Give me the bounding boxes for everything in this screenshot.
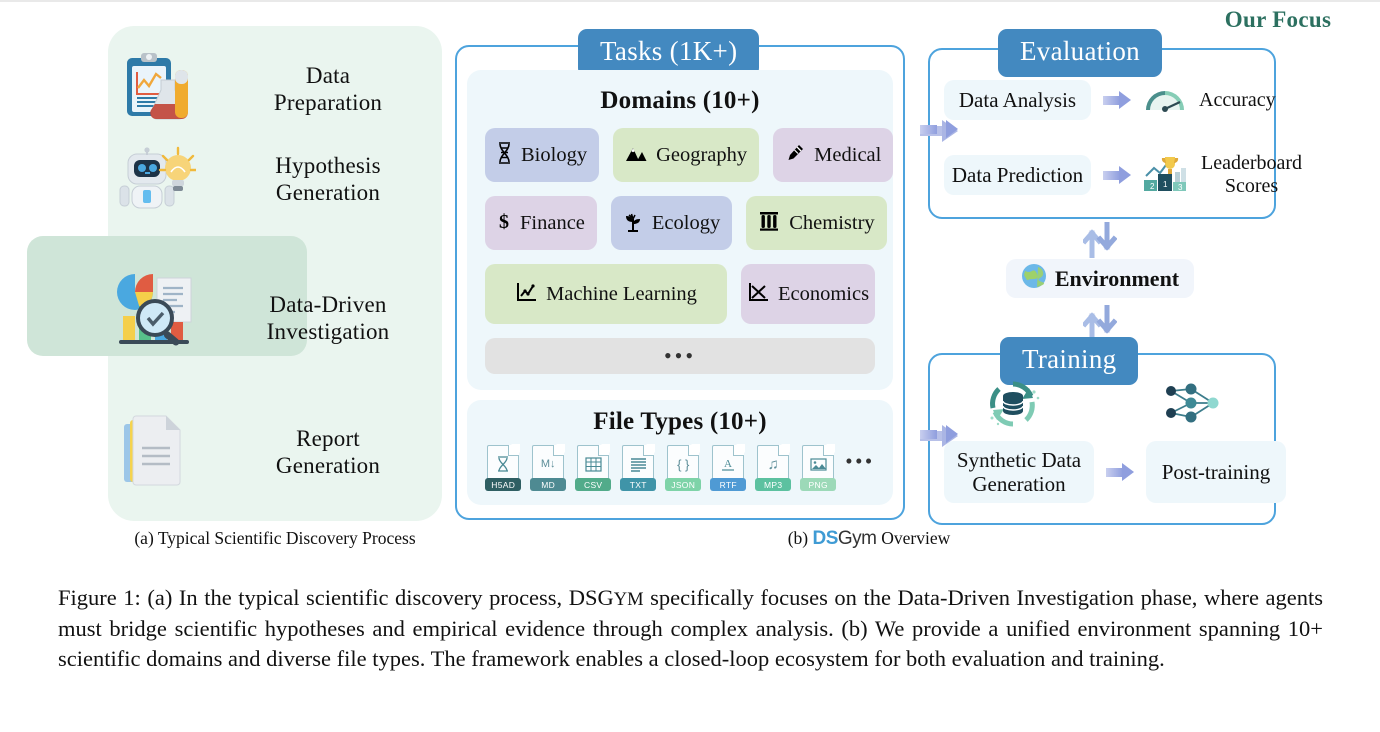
svg-text:2: 2	[1150, 182, 1155, 191]
svg-text:3: 3	[1178, 183, 1183, 192]
arrow-tasks-to-training	[920, 425, 958, 447]
domains-heading: Domains (10+)	[467, 70, 893, 115]
flow-step-label: Hypothesis Generation	[214, 152, 442, 206]
svg-text:$: $	[499, 211, 509, 232]
evaluation-row-data-prediction: Data Prediction 2 1 3 Leaderboard Scores	[944, 152, 1302, 198]
filetype-rtf[interactable]: A RTF	[710, 445, 746, 491]
figure-container: Our Focus Data Preparation	[0, 0, 1380, 732]
dsgym-logo: DSGym	[812, 528, 881, 549]
domain-chip-more[interactable]: •••	[485, 338, 875, 374]
logo-gym: Gym	[838, 528, 877, 549]
domain-chip-chemistry[interactable]: Chemistry	[746, 196, 886, 250]
filetype-tag: MP3	[755, 478, 791, 491]
label-line-2: Generation	[276, 180, 380, 205]
caption-smallcaps: YM	[614, 590, 644, 610]
sprout-icon	[623, 211, 643, 236]
domain-chip-machine-learning[interactable]: Machine Learning	[485, 264, 727, 324]
documents-icon	[108, 412, 204, 492]
caption-part-1: Figure 1: (a) In the typical scientific …	[58, 585, 614, 610]
test-tubes-icon	[758, 211, 780, 235]
eval-task-data-prediction[interactable]: Data Prediction	[944, 155, 1091, 195]
evaluation-row-data-analysis: Data Analysis Accuracy	[944, 80, 1276, 120]
environment-box[interactable]: Environment	[1006, 259, 1194, 298]
filetype-txt[interactable]: TXT	[620, 445, 656, 491]
filetype-tag: MD	[530, 478, 566, 491]
domain-chip-grid: Biology Geography	[485, 128, 875, 388]
training-step-post-training[interactable]: Post-training	[1146, 441, 1286, 503]
neural-network-icon	[1163, 381, 1223, 430]
training-step-label: Synthetic Data Generation	[957, 448, 1081, 496]
filetype-tag: H5AD	[485, 478, 521, 491]
robot-lightbulb-icon	[108, 140, 204, 218]
domain-chip-medical[interactable]: Medical	[773, 128, 893, 182]
filetype-tag: CSV	[575, 478, 611, 491]
logo-ds: DS	[812, 528, 837, 549]
filetype-h5ad[interactable]: H5AD	[485, 445, 521, 491]
training-step-synthetic-data-generation[interactable]: Synthetic Data Generation	[944, 441, 1094, 503]
figure-caption: Figure 1: (a) In the typical scientific …	[58, 583, 1323, 675]
domain-chip-label: Finance	[520, 212, 585, 235]
filetypes-card: File Types (10+) H5AD M↓ MD CSV	[467, 400, 893, 505]
domain-chip-row: $ Finance Ecolo	[485, 196, 875, 250]
arrow-right-icon	[1103, 166, 1131, 184]
label-line-2: Preparation	[274, 90, 382, 115]
caption-panel-a: (a) Typical Scientific Discovery Process	[108, 528, 442, 549]
filetype-json[interactable]: { } JSON	[665, 445, 701, 491]
flow-step-label: Data Preparation	[214, 62, 442, 116]
filetype-tag: JSON	[665, 478, 701, 491]
eval-metric-accuracy: Accuracy	[1199, 89, 1276, 112]
training-flow-row: Synthetic Data Generation Post-training	[944, 441, 1286, 503]
filetypes-heading: File Types (10+)	[467, 400, 893, 436]
arrow-right-icon	[1106, 463, 1134, 481]
filetype-icon-row: H5AD M↓ MD CSV TXT { } JSON	[467, 445, 893, 491]
flow-step-label: Report Generation	[214, 425, 442, 479]
domain-chip-label: Ecology	[652, 212, 720, 235]
domains-card: Domains (10+) Biology	[467, 70, 893, 390]
domain-chip-geography[interactable]: Geography	[613, 128, 759, 182]
domain-chip-row: Biology Geography	[485, 128, 875, 182]
label-line-2: Generation	[972, 472, 1065, 496]
label-line-1: Synthetic Data	[957, 448, 1081, 472]
label-line-1: Data	[306, 63, 350, 88]
domain-chip-label: Geography	[656, 144, 747, 167]
domain-chip-label: Economics	[778, 283, 869, 306]
our-focus-title: Our Focus	[1194, 7, 1362, 33]
globe-icon	[1021, 263, 1047, 295]
filetype-md[interactable]: M↓ MD	[530, 445, 566, 491]
domain-chip-economics[interactable]: Economics	[741, 264, 875, 324]
filetype-mp3[interactable]: ♫ MP3	[755, 445, 791, 491]
label-line-2: Investigation	[267, 319, 390, 344]
label-line-1: Report	[296, 426, 360, 451]
podium-trophy-icon: 2 1 3	[1143, 154, 1189, 197]
flow-step-report-generation: Report Generation	[108, 412, 442, 492]
domain-chip-label: Biology	[521, 144, 587, 167]
domain-chip-row: Machine Learning Economics	[485, 264, 875, 324]
label-line-1: Hypothesis	[275, 153, 381, 178]
domain-chip-ecology[interactable]: Ecology	[611, 196, 732, 250]
gauge-icon	[1143, 83, 1187, 118]
flow-step-data-driven-investigation: Data-Driven Investigation	[108, 270, 442, 354]
evaluation-title-pill: Evaluation	[998, 29, 1162, 77]
syringe-icon	[785, 143, 805, 167]
metric-line-2: Scores	[1201, 175, 1302, 198]
svg-text:1: 1	[1163, 180, 1168, 189]
eval-task-data-analysis[interactable]: Data Analysis	[944, 80, 1091, 120]
filetype-csv[interactable]: CSV	[575, 445, 611, 491]
dna-icon	[497, 142, 512, 168]
domain-chip-finance[interactable]: $ Finance	[485, 196, 597, 250]
label-line-1: Data-Driven	[269, 292, 386, 317]
database-recycle-icon	[984, 378, 1042, 435]
flow-step-hypothesis-generation: Hypothesis Generation	[108, 140, 442, 218]
supply-demand-icon	[747, 282, 769, 307]
domain-chip-label: Machine Learning	[546, 283, 697, 306]
flow-step-data-preparation: Data Preparation	[108, 50, 442, 128]
top-divider	[0, 0, 1380, 2]
eval-metric-leaderboard-scores: Leaderboard Scores	[1201, 152, 1302, 198]
filetype-png[interactable]: PNG	[800, 445, 836, 491]
metric-line-1: Leaderboard	[1201, 152, 1302, 174]
mountain-icon	[625, 145, 647, 166]
filetype-tag: RTF	[710, 478, 746, 491]
caption-b-suffix: Overview	[881, 528, 950, 548]
filetype-tag: TXT	[620, 478, 656, 491]
filetype-tag: PNG	[800, 478, 836, 491]
filetype-more[interactable]: •••	[845, 449, 875, 488]
caption-panel-b: (b) DSGym Overview	[455, 528, 1283, 550]
label-line-2: Generation	[276, 453, 380, 478]
dollar-icon: $	[497, 210, 511, 236]
chart-magnifier-icon	[108, 270, 204, 354]
arrow-right-icon	[1103, 91, 1131, 109]
domain-chip-biology[interactable]: Biology	[485, 128, 599, 182]
svg-text:A: A	[724, 458, 732, 470]
domain-chip-label: Medical	[814, 144, 881, 167]
domain-chip-label: Chemistry	[789, 212, 874, 235]
line-chart-icon	[515, 282, 537, 307]
caption-b-prefix: (b)	[788, 528, 808, 548]
clipboard-flask-icon	[108, 50, 204, 128]
arrow-tasks-to-evaluation	[920, 120, 958, 142]
arrow-updown-eval-env	[1083, 222, 1117, 260]
flow-step-label: Data-Driven Investigation	[214, 279, 442, 345]
environment-label: Environment	[1055, 266, 1179, 292]
domain-chip-row-more: •••	[485, 338, 875, 374]
